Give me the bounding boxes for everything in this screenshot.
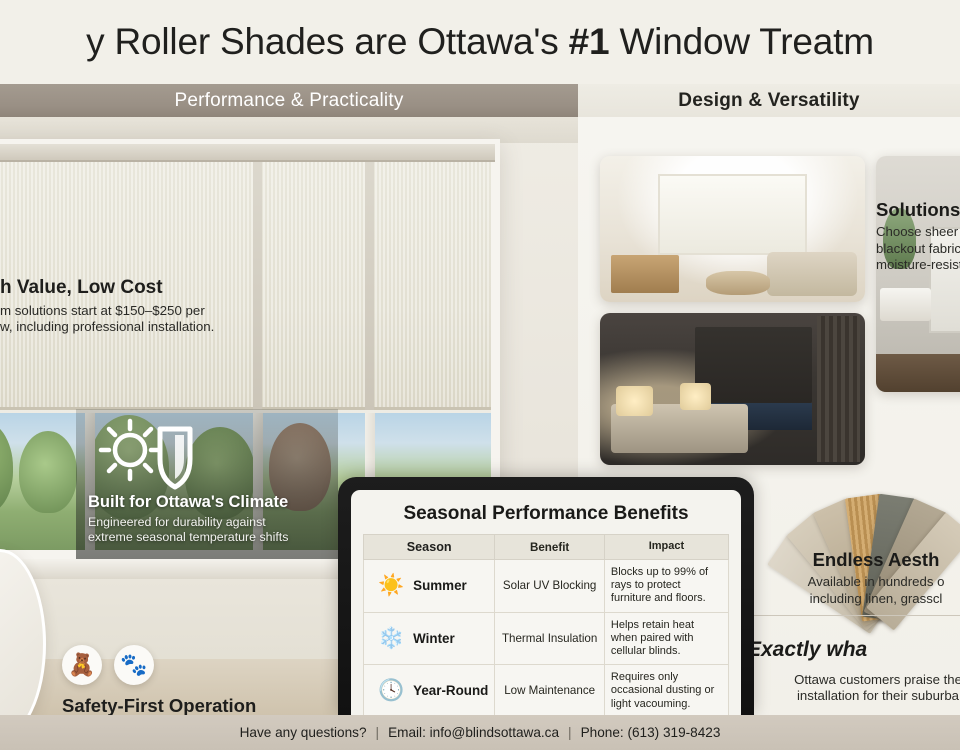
testimonial-body: Ottawa customers praise the installation…	[718, 672, 960, 705]
left-panel-band: Performance & Practicality	[0, 84, 578, 117]
season-cell-content: 🕓 Year-Round	[370, 680, 488, 701]
bathroom-moisture-resistant-shade-photo	[876, 156, 960, 392]
safety-heading: Safety-First Operation	[62, 695, 352, 715]
column-header-season: Season	[364, 535, 495, 560]
teddy-bear-icon: 🧸	[62, 645, 102, 685]
shade-divider-2	[365, 162, 374, 410]
infographic-page: y Roller Shades are Ottawa's #1 Window T…	[0, 0, 960, 750]
climate-icon-group	[88, 417, 328, 493]
testimonial-block: “ Exactly wha Ottawa customers praise th…	[718, 633, 960, 705]
value-body: m solutions start at $150–$250 per w, in…	[0, 303, 260, 336]
season-cell-content: ❄️ Winter	[370, 628, 488, 649]
snowflake-thermometer-icon: ❄️	[378, 628, 404, 649]
table-row: ❄️ Winter Thermal Insulation Helps retai…	[364, 612, 729, 665]
solutions-block: Solutions Choose sheer blackout fabric m…	[876, 199, 960, 274]
fabric-swatch-fan	[776, 393, 960, 533]
living-room-sheer-shades-photo	[600, 156, 865, 302]
photo-floor	[876, 354, 960, 392]
column-header-impact: Impact	[604, 535, 728, 560]
testimonial-headline-row: “ Exactly wha	[718, 633, 960, 667]
paw-print-icon: 🐾	[114, 645, 154, 685]
table-head: Season Benefit Impact	[364, 535, 729, 560]
safety-icon-group: 🧸 🐾	[62, 645, 352, 685]
title-highlight: #1	[569, 21, 610, 62]
sun-shield-icon-group	[88, 417, 238, 491]
season-cell-content: ☀️ Summer	[370, 575, 488, 596]
footer-email[interactable]: Email: info@blindsottawa.ca	[388, 725, 559, 740]
climate-heading: Built for Ottawa's Climate	[88, 493, 328, 512]
cell-season: ☀️ Summer	[364, 560, 495, 613]
photo-coffee-table	[706, 271, 770, 294]
tablet-device: Seasonal Performance Benefits Season Ben…	[338, 477, 754, 715]
seasonal-benefits-table: Season Benefit Impact ☀️ Summer Sola	[363, 534, 729, 715]
solutions-heading: Solutions	[876, 199, 960, 221]
aesthetics-body: Available in hundreds o including linen,…	[746, 574, 960, 607]
sun-icon: ☀️	[378, 575, 404, 596]
page-title-bar: y Roller Shades are Ottawa's #1 Window T…	[0, 0, 960, 84]
footer-separator: |	[376, 725, 380, 740]
page-title: y Roller Shades are Ottawa's #1 Window T…	[86, 21, 874, 63]
footer-phone[interactable]: Phone: (613) 319-8423	[581, 725, 721, 740]
title-part-after: Window Treatm	[609, 21, 874, 62]
left-panel-band-label: Performance & Practicality	[174, 90, 403, 112]
cell-impact: Helps retain heat when paired with cellu…	[604, 612, 728, 665]
testimonial-headline: Exactly wha	[747, 638, 867, 662]
clock-icon: 🕓	[378, 680, 404, 701]
table-row: ☀️ Summer Solar UV Blocking Blocks up to…	[364, 560, 729, 613]
tree	[19, 431, 77, 513]
photo-blackout-shade	[695, 327, 812, 403]
season-label: Winter	[413, 631, 455, 646]
cell-benefit: Thermal Insulation	[495, 612, 605, 665]
season-label: Summer	[413, 578, 467, 593]
aesthetics-block: Endless Aesth Available in hundreds o in…	[746, 549, 960, 607]
photo-lamp	[616, 386, 653, 416]
tree	[0, 419, 13, 515]
aesthetics-heading: Endless Aesth	[746, 549, 960, 571]
photo-sideboard	[611, 255, 680, 293]
footer-separator: |	[568, 725, 572, 740]
column-header-benefit: Benefit	[495, 535, 605, 560]
value-text-block: h Value, Low Cost m solutions start at $…	[0, 277, 260, 336]
right-panel-band: Design & Versatility	[578, 84, 960, 117]
photo-sofa	[767, 252, 857, 296]
cell-benefit: Solar UV Blocking	[495, 560, 605, 613]
shade-headrail	[0, 144, 495, 162]
section-divider	[732, 615, 960, 616]
photo-vanity	[880, 288, 931, 321]
table-header-row: Season Benefit Impact	[364, 535, 729, 560]
photo-window	[658, 174, 806, 256]
climate-body: Engineered for durability against extrem…	[88, 515, 328, 544]
solutions-body: Choose sheer blackout fabric moisture-re…	[876, 224, 960, 274]
cell-benefit: Low Maintenance	[495, 665, 605, 715]
cell-season: ❄️ Winter	[364, 612, 495, 665]
shield-icon	[160, 429, 190, 487]
contact-footer: Have any questions? | Email: info@blinds…	[0, 715, 960, 750]
footer-question: Have any questions?	[240, 725, 367, 740]
table-title: Seasonal Performance Benefits	[363, 503, 729, 525]
sun-icon	[101, 421, 159, 479]
cell-impact: Blocks up to 99% of rays to protect furn…	[604, 560, 728, 613]
table-body: ☀️ Summer Solar UV Blocking Blocks up to…	[364, 560, 729, 716]
cell-season: 🕓 Year-Round	[364, 665, 495, 715]
climate-overlay-card: Built for Ottawa's Climate Engineered fo…	[76, 409, 338, 561]
cell-impact: Requires only occasional dusting or ligh…	[604, 665, 728, 715]
teddy-bear-glyph: 🧸	[68, 652, 95, 678]
photo-lamp	[680, 383, 712, 410]
safety-block: 🧸 🐾 Safety-First Operation Modern cordle…	[62, 645, 352, 715]
season-label: Year-Round	[413, 683, 488, 698]
paw-print-glyph: 🐾	[120, 652, 147, 678]
tablet-screen: Seasonal Performance Benefits Season Ben…	[351, 490, 741, 715]
right-panel-band-label: Design & Versatility	[678, 90, 859, 112]
table-row: 🕓 Year-Round Low Maintenance Requires on…	[364, 665, 729, 715]
title-part-before: y Roller Shades are Ottawa's	[86, 21, 568, 62]
value-heading: h Value, Low Cost	[0, 277, 260, 299]
